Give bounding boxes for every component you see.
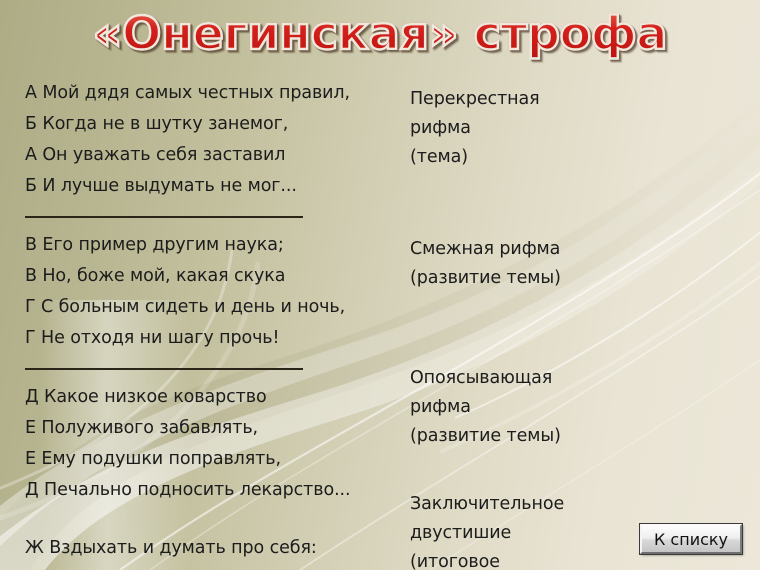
poem-line: В Но, боже мой, какая скука: [25, 261, 395, 292]
rhyme-label-crossed: Перекрестная рифма (тема): [410, 85, 540, 172]
poem-line: Е Полуживого забавлять,: [25, 413, 395, 444]
slide: «Онегинская» строфа А Мой дядя самых чес…: [0, 0, 760, 570]
poem-line: Г Не отходя ни шагу прочь!: [25, 323, 395, 354]
rhyme-label-adjacent: Смежная рифма (развитие темы): [410, 235, 561, 293]
stanza-separator: [25, 368, 303, 370]
poem-line: А Мой дядя самых честных правил,: [25, 78, 395, 109]
poem-line: Б Когда не в шутку занемог,: [25, 109, 395, 140]
stanza-separator: [25, 216, 303, 218]
poem-line: Ж Вздыхать и думать про себя:: [25, 533, 395, 564]
stanza-3: Д Какое низкое коварство Е Полуживого за…: [25, 382, 395, 506]
stanza-gap: [25, 506, 395, 533]
stanza-4: Ж Вздыхать и думать про себя: Ж «Когда ж…: [25, 533, 395, 570]
poem-line: В Его пример другим наука;: [25, 230, 395, 261]
poem-line: Ж «Когда же черт возьмет тебя!»: [25, 564, 395, 570]
title-container: «Онегинская» строфа: [0, 10, 760, 57]
back-to-list-button[interactable]: К списку: [640, 524, 742, 554]
rhyme-label-enclosed: Опоясывающая рифма (развитие темы): [410, 364, 561, 451]
rhyme-label-column: Перекрестная рифма (тема) Смежная рифма …: [410, 0, 710, 570]
page-title: «Онегинская» строфа: [93, 10, 667, 57]
stanza-1: А Мой дядя самых честных правил, Б Когда…: [25, 78, 395, 202]
rhyme-label-couplet: Заключительное двустишие (итоговое осмыс…: [410, 490, 564, 570]
poem-column: А Мой дядя самых честных правил, Б Когда…: [25, 78, 395, 570]
poem-line: Г С больным сидеть и день и ночь,: [25, 292, 395, 323]
poem-line: Б И лучше выдумать не мог...: [25, 171, 395, 202]
poem-line: Д Печально подносить лекарство...: [25, 475, 395, 506]
back-to-list-button-label: К списку: [654, 530, 728, 549]
poem-line: Д Какое низкое коварство: [25, 382, 395, 413]
poem-line: Е Ему подушки поправлять,: [25, 444, 395, 475]
poem-line: А Он уважать себя заставил: [25, 140, 395, 171]
stanza-2: В Его пример другим наука; В Но, боже мо…: [25, 230, 395, 354]
